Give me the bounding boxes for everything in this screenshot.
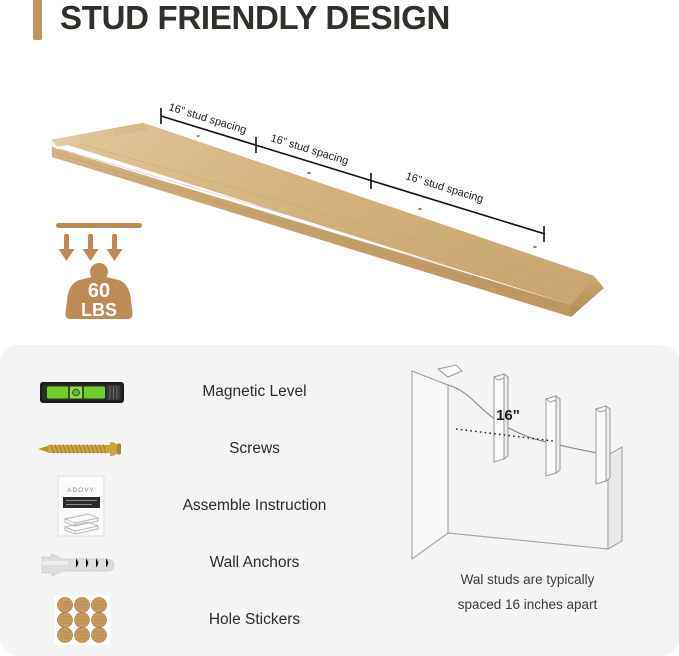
accessory-item-instruction: ADOVY As	[30, 477, 375, 534]
weight-value: 60	[88, 280, 110, 302]
load-arrows	[59, 234, 123, 261]
stud-spacing-label: 16"	[496, 407, 520, 424]
support-bar	[56, 223, 142, 228]
accessory-item-screws: Screws	[30, 420, 375, 477]
sticker-grid	[58, 597, 107, 642]
booklet-brand: ADOVY	[67, 487, 95, 494]
hole-stickers-icon	[30, 594, 134, 646]
magnetic-level-icon	[30, 376, 134, 408]
stud-3	[596, 406, 610, 484]
wall-diagram-caption: Wal studs are typically spaced 16 inches…	[390, 567, 665, 617]
accessory-label: Magnetic Level	[134, 383, 375, 401]
accessory-list: Magnetic Level	[30, 363, 375, 648]
caption-line-2: spaced 16 inches apart	[390, 592, 665, 617]
wall-anchor-icon	[30, 550, 134, 576]
accessory-label: Wall Anchors	[134, 554, 375, 572]
accessory-item-magnetic-level: Magnetic Level	[30, 363, 375, 420]
accessory-label: Screws	[134, 440, 375, 458]
page-title: STUD FRIENDLY DESIGN	[60, 0, 450, 37]
title-accent-bar	[33, 0, 42, 40]
wall-studs-diagram: 16"	[390, 363, 665, 568]
screw-icon	[30, 438, 134, 460]
weight-capacity-icon: 60 LBS	[44, 216, 154, 328]
weight-unit: LBS	[81, 300, 117, 320]
accessory-label: Hole Stickers	[134, 611, 375, 629]
weight-block: 60 LBS	[65, 263, 132, 320]
stud-2	[546, 396, 560, 476]
dimension-label-1: 16” stud spacing	[167, 101, 248, 136]
instruction-booklet-icon: ADOVY	[30, 475, 134, 537]
dimension-label-3: 16” stud spacing	[404, 170, 485, 205]
accessory-item-wall-anchors: Wall Anchors	[30, 534, 375, 591]
accessories-panel: Magnetic Level	[0, 345, 679, 656]
accessory-label: Assemble Instruction	[134, 497, 375, 515]
caption-line-1: Wal studs are typically	[390, 567, 665, 592]
accessory-item-hole-stickers: Hole Stickers	[30, 591, 375, 648]
